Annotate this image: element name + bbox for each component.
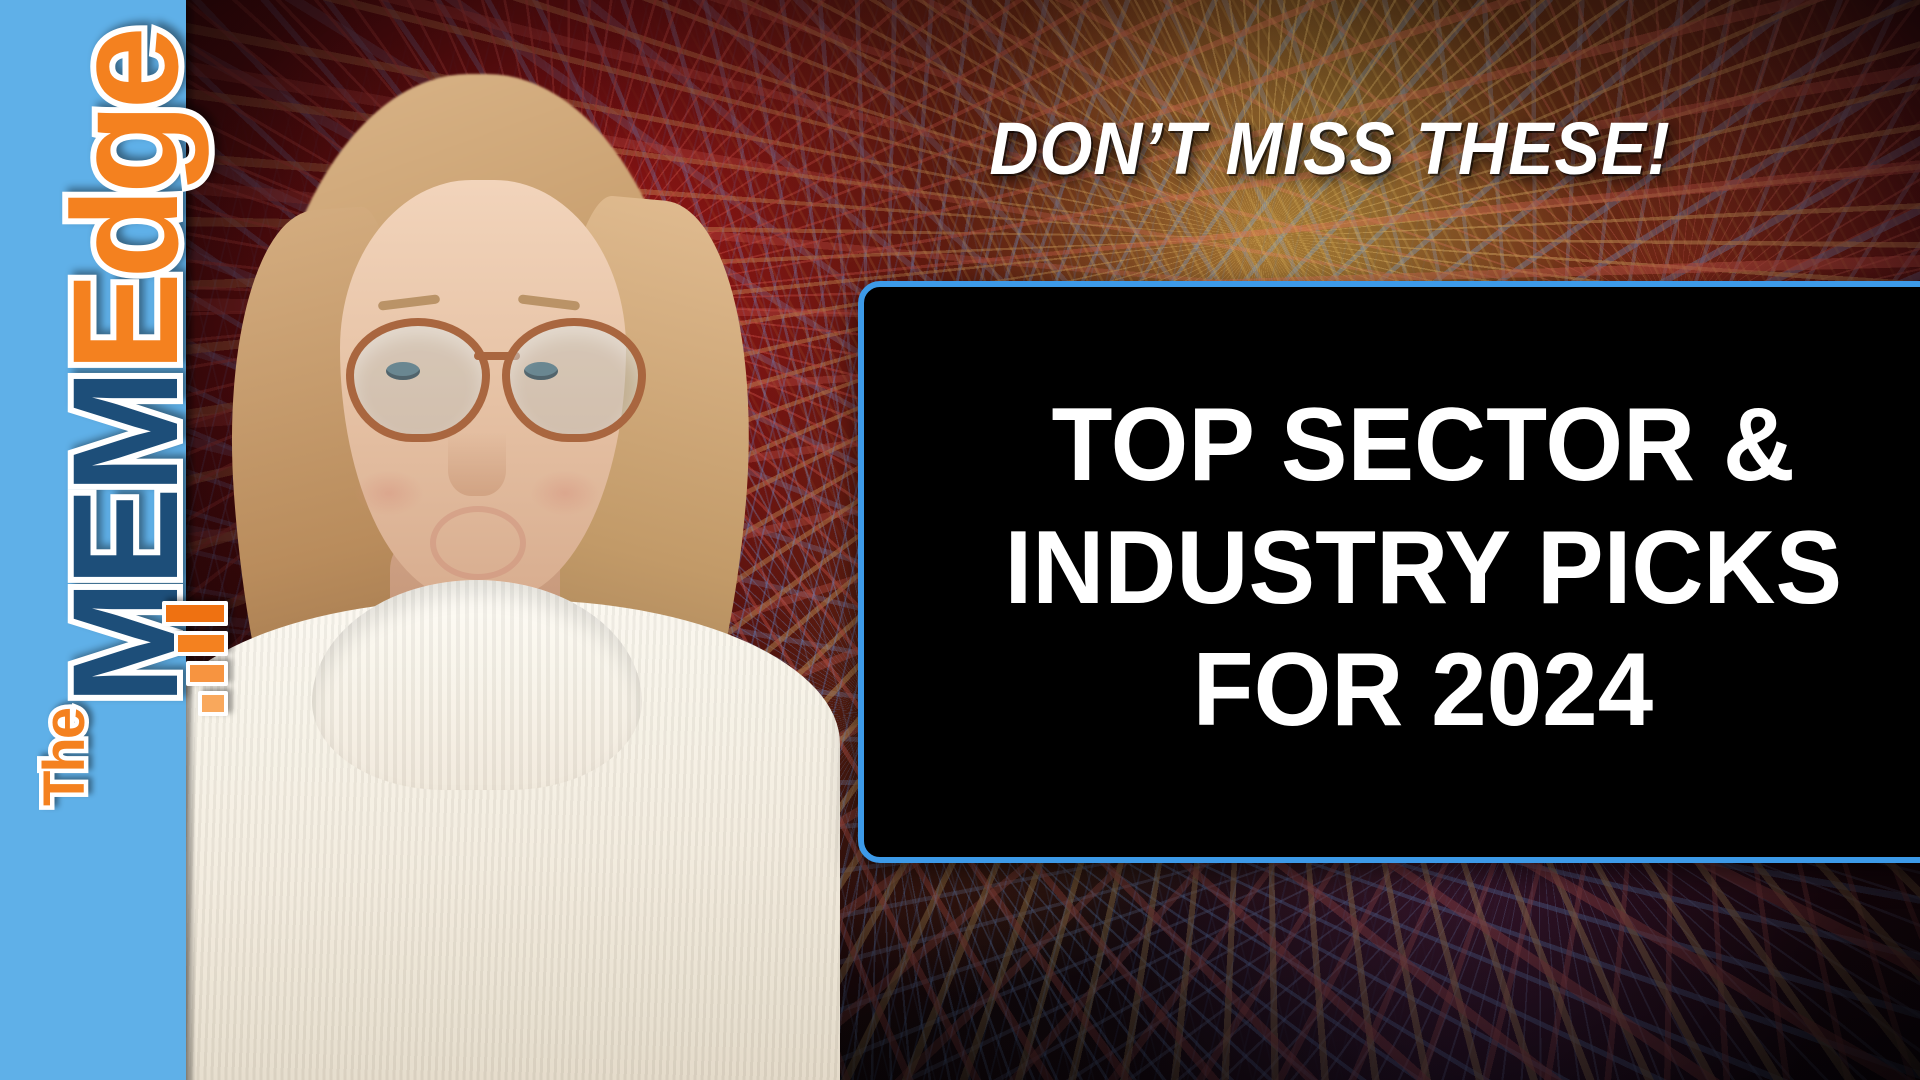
eyeglasses-icon xyxy=(346,318,646,436)
brand-logo[interactable]: The MEM Edge xyxy=(4,152,184,812)
cheek-right xyxy=(530,470,600,516)
bar-chart-icon xyxy=(162,601,228,716)
title-line-1: TOP SECTOR & xyxy=(1051,384,1794,507)
nose xyxy=(448,432,506,496)
bar-chart-icon-bar-3 xyxy=(174,631,228,656)
bar-chart-icon-bar-1 xyxy=(198,691,228,716)
eyeglass-lens-right xyxy=(502,318,646,442)
bar-chart-icon-bar-4 xyxy=(162,601,228,626)
brand-logo-edge: Edge xyxy=(67,33,184,372)
bar-chart-icon-bar-2 xyxy=(186,661,228,686)
title-line-3: FOR 2024 xyxy=(1193,629,1654,752)
brand-logo-the: The xyxy=(42,709,88,806)
eyeglass-lens-left xyxy=(346,318,490,442)
thumbnail-canvas: The MEM Edge DON’T MISS THESE! TOP SECTO… xyxy=(0,0,1920,1080)
presenter-figure xyxy=(140,60,840,1080)
kicker-headline: DON’T MISS THESE! xyxy=(787,112,1873,186)
title-card: TOP SECTOR & INDUSTRY PICKS FOR 2024 xyxy=(858,281,1920,863)
mouth xyxy=(436,512,520,574)
brand-logo-inner: The MEM Edge xyxy=(67,33,184,812)
cheek-left xyxy=(354,470,424,516)
title-line-2: INDUSTRY PICKS xyxy=(1004,507,1842,630)
